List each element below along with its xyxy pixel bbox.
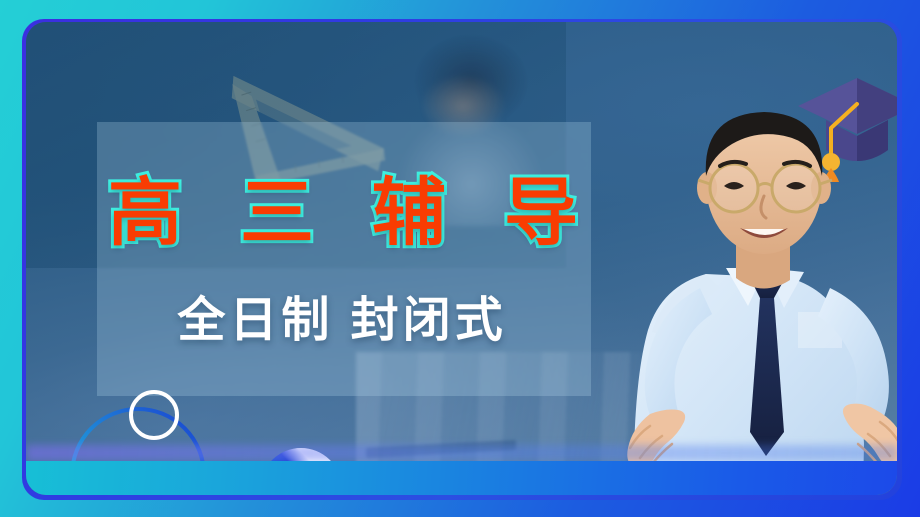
bottom-gradient-strip [26,461,897,495]
poster-canvas: 高 三 辅 导 全日制 封闭式 [0,0,920,517]
white-ring-decoration [129,390,179,440]
text-overlay-panel [97,122,591,396]
headline-char-2: 三 [240,170,314,256]
page-title: 高 三 辅 导 [108,170,578,256]
bottom-strip-glow [26,445,897,461]
headline-char-4: 导 [504,170,578,256]
male-teacher-photo [614,92,897,495]
inner-content-card: 高 三 辅 导 全日制 封闭式 [26,22,897,495]
headline-char-1: 高 [108,170,182,256]
page-subtitle: 全日制 封闭式 [112,292,572,350]
headline-char-3: 辅 [372,170,446,256]
